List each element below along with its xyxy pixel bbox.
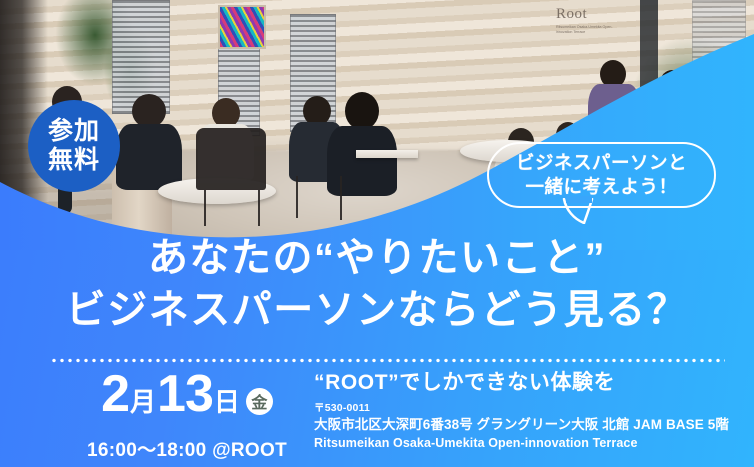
root-signage-subtitle: Ritsumeikan Osaka-Umekita Open-innovatio… [556, 25, 618, 35]
chair-leg [258, 190, 260, 226]
chair-leg [296, 176, 298, 218]
badge-line-1: 参加 [48, 117, 100, 147]
dotted-divider [50, 358, 725, 363]
event-day-number: 13 [157, 368, 213, 420]
speech-bubble-line-1: ビジネスパーソンと [516, 151, 687, 175]
venue-address: 大阪市北区大深町6番38号 グラングリーン大阪 北館 JAM BASE 5階 [314, 416, 744, 433]
root-signage-title: Root [556, 6, 618, 23]
venue-address-en: Ritsumeikan Osaka-Umekita Open-innovatio… [314, 435, 744, 451]
chair [196, 128, 266, 190]
chair-leg [204, 190, 206, 226]
event-day-unit: 日 [214, 376, 240, 428]
speech-bubble: ビジネスパーソンと 一緒に考えよう！ [487, 142, 716, 208]
chair-leg [340, 176, 342, 220]
event-date-line: 2 月 13 日 金 [74, 368, 300, 428]
event-poster: Root Ritsumeikan Osaka-Umekita Open-inno… [0, 0, 754, 467]
event-time-and-place: 16:00〜18:00 @ROOT [74, 435, 300, 462]
badge-line-2: 無料 [48, 146, 100, 176]
day-of-week-badge: 金 [246, 388, 273, 415]
event-month-number: 2 [101, 368, 129, 420]
side-table [356, 150, 418, 158]
bubble-tail-joint [566, 196, 592, 203]
event-date-block: 2 月 13 日 金 16:00〜18:00 @ROOT [74, 368, 300, 462]
speech-bubble-line-2: 一緒に考えよう！ [525, 175, 677, 199]
wall-artwork [218, 5, 266, 49]
venue-tagline: “ROOT”でしかできない体験を [314, 370, 744, 396]
headline-line-2: ビジネスパーソンならどう見る？ [0, 284, 754, 336]
venue-block: “ROOT”でしかできない体験を 〒530-0011 大阪市北区大深町6番38号… [314, 370, 744, 451]
root-signage: Root Ritsumeikan Osaka-Umekita Open-inno… [556, 6, 618, 35]
window-blind [692, 0, 746, 100]
headline-line-1: あなたの“やりたいこと” [0, 232, 754, 284]
event-month-unit: 月 [130, 376, 156, 428]
free-admission-badge: 参加 無料 [28, 100, 120, 192]
venue-postal-code: 〒530-0011 [314, 402, 744, 415]
main-headline: あなたの“やりたいこと” ビジネスパーソンならどう見る？ [0, 232, 754, 336]
